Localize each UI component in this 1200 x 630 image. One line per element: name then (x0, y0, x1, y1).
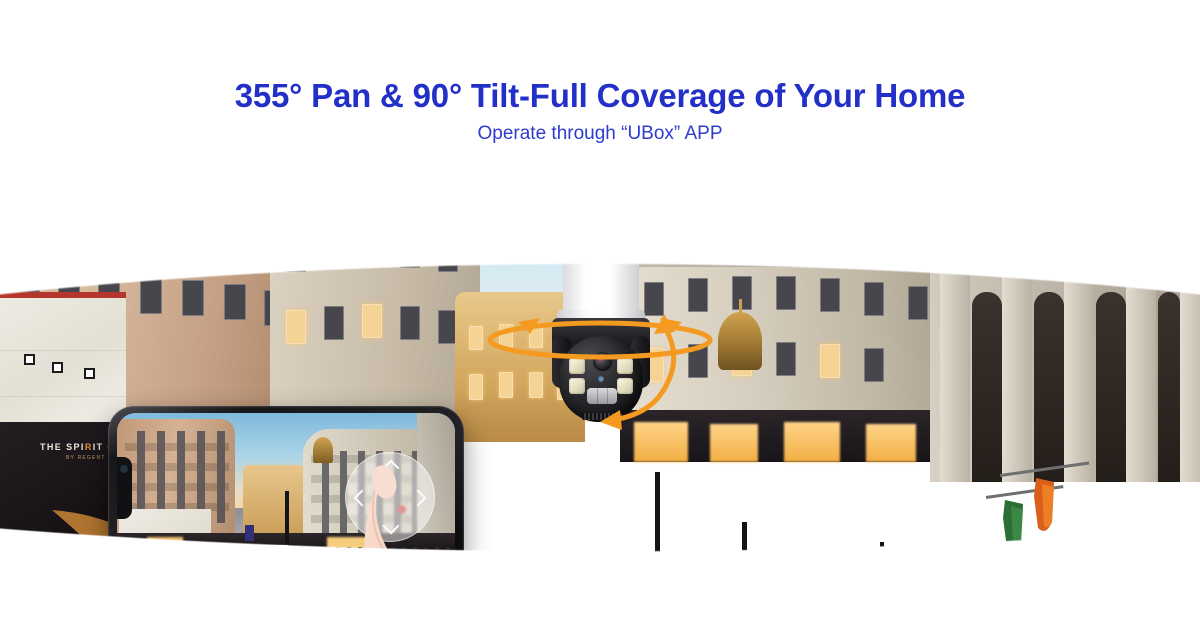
traffic-light (736, 580, 748, 592)
window (140, 198, 162, 234)
window (908, 212, 928, 246)
window (1116, 138, 1138, 178)
window (908, 286, 928, 320)
led-floodlight (569, 358, 585, 374)
window (810, 152, 826, 174)
window (1170, 138, 1192, 178)
window (864, 282, 884, 316)
pilaster (1126, 242, 1156, 482)
led-floodlight (569, 378, 585, 394)
pilaster (1064, 242, 1094, 482)
phone-notch (117, 457, 132, 519)
window (688, 204, 708, 238)
window-lit (469, 326, 483, 350)
camera-head (559, 336, 643, 422)
window (98, 198, 120, 234)
live-truck (259, 545, 289, 561)
cupola-dome (718, 312, 762, 370)
arch-opening (972, 292, 1002, 482)
window-lit (499, 372, 513, 398)
window (140, 278, 162, 314)
window (650, 156, 666, 178)
window (182, 280, 204, 316)
cornice (0, 122, 300, 127)
tilt-arrow-up (654, 314, 675, 334)
window (730, 150, 746, 172)
street-scene: THE SPIRIT OF CHRISTMAS BY REGENT STREET (0, 122, 1200, 592)
scene-photo-band: THE SPIRIT OF CHRISTMAS BY REGENT STREET (0, 122, 1200, 592)
arch-opening (1034, 292, 1064, 482)
window (224, 148, 246, 182)
window (400, 178, 420, 210)
orange-flag (1032, 478, 1058, 550)
cornice (270, 152, 480, 160)
window (140, 142, 162, 176)
live-taxi (303, 547, 329, 561)
building-right-stone (930, 122, 1200, 482)
window (182, 144, 204, 178)
window (98, 142, 120, 176)
window (224, 284, 246, 320)
green-flag (1002, 500, 1028, 572)
window (324, 306, 344, 340)
window (1008, 138, 1030, 178)
window (688, 344, 708, 378)
window (438, 182, 458, 214)
ptz-camera (530, 240, 672, 430)
window (58, 144, 80, 178)
window (324, 234, 344, 268)
window (182, 200, 204, 236)
fila-logo (24, 354, 35, 365)
lamp-post (880, 542, 884, 592)
shop-window-glow (866, 424, 916, 462)
camera-faceplate (567, 348, 635, 410)
tilt-arc (658, 326, 674, 398)
window (644, 208, 664, 242)
window (864, 348, 884, 382)
arch-opening (1158, 292, 1180, 482)
pilaster (940, 242, 970, 482)
fila-logo (84, 368, 95, 379)
signal-pole (655, 472, 660, 592)
window-lit (362, 304, 382, 338)
window (324, 178, 344, 210)
cornice (0, 262, 300, 267)
scaffold-rail (0, 292, 126, 298)
window (732, 202, 752, 236)
window (732, 276, 752, 310)
window (770, 150, 786, 172)
page-title: 355° Pan & 90° Tilt-Full Coverage of You… (0, 78, 1200, 114)
window (400, 306, 420, 340)
live-flag (245, 525, 254, 541)
pilaster (1002, 242, 1032, 482)
led-floodlight (617, 358, 633, 374)
window (820, 204, 840, 238)
window (18, 202, 40, 238)
window-lit (820, 344, 840, 378)
window (820, 278, 840, 312)
camera-housing (563, 240, 639, 318)
cornice (620, 186, 950, 196)
window-lit (286, 310, 306, 344)
window (864, 208, 884, 242)
window (1062, 138, 1084, 178)
building-center-left-stone (270, 142, 480, 442)
window (690, 152, 706, 174)
ir-sensor (598, 376, 604, 382)
window (850, 156, 866, 178)
window (400, 234, 420, 268)
shop-window-glow (784, 422, 840, 462)
window (224, 204, 246, 240)
window (58, 200, 80, 236)
window (688, 278, 708, 312)
fila-logo (52, 362, 63, 373)
hand-pointing (330, 452, 575, 592)
pilaster (1180, 242, 1200, 482)
window (954, 138, 976, 178)
arch-opening (1096, 292, 1126, 482)
window (776, 276, 796, 310)
window (776, 342, 796, 376)
window (286, 182, 306, 214)
shop-window-glow (710, 424, 758, 462)
window-lit (499, 324, 513, 348)
window (890, 160, 906, 182)
window (438, 238, 458, 272)
window (776, 202, 796, 236)
window (362, 176, 382, 208)
pir-sensor (587, 388, 617, 404)
led-floodlight (617, 378, 633, 394)
window (286, 238, 306, 272)
marketing-banner: THE SPIRIT OF CHRISTMAS BY REGENT STREET (0, 0, 1200, 630)
camera-lens (593, 352, 612, 371)
window-lit (469, 374, 483, 400)
traffic-light-red (739, 583, 745, 589)
window (18, 146, 40, 180)
window (362, 232, 382, 266)
camera-vents (582, 413, 622, 420)
cornice (930, 232, 1200, 239)
